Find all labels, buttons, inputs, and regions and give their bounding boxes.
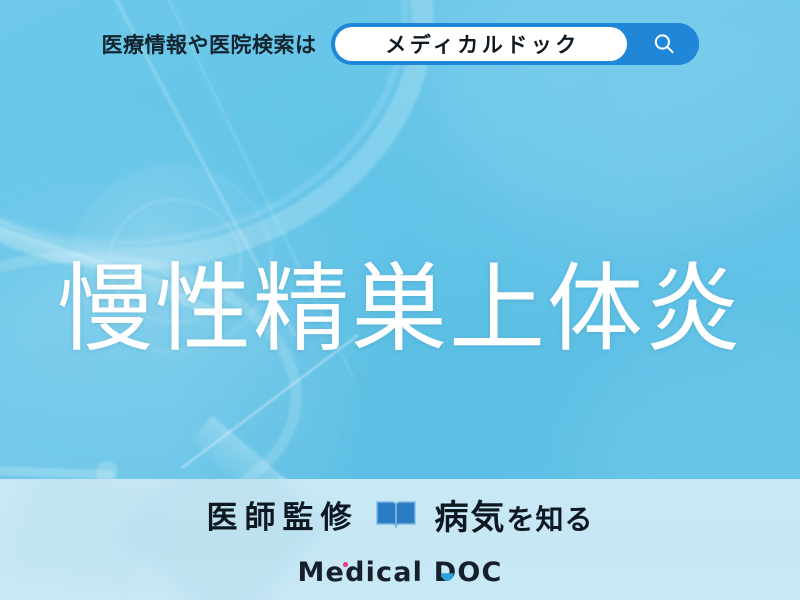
logo-wordmark: Medical DOC — [297, 556, 502, 590]
site-header: 医療情報や医院検索は メディカルドック — [0, 0, 800, 88]
doctor-supervised-label: 医師監修 — [206, 492, 358, 537]
page-title: 慢性精巣上体炎 — [57, 260, 743, 361]
page-root: 医療情報や医院検索は メディカルドック 慢性精巣上体炎 医師監修 — [0, 0, 800, 600]
header-tagline: 医療情報や医院検索は — [102, 29, 317, 59]
search-button[interactable] — [629, 23, 699, 65]
search-bar[interactable]: メディカルドック — [331, 23, 699, 65]
search-input-value: メディカルドック — [381, 29, 580, 59]
logo-text: Medical DOC — [297, 556, 502, 590]
hero-section: 慢性精巣上体炎 — [0, 196, 800, 425]
know-disease-secondary: を知る — [506, 498, 593, 538]
banner-content-row: 医師監修 病気 を知る — [0, 490, 800, 539]
know-disease-label: 病気 を知る — [434, 490, 593, 539]
search-input[interactable]: メディカルドック — [335, 27, 627, 61]
site-logo[interactable]: Medical DOC — [0, 556, 800, 590]
know-disease-primary: 病気 — [434, 490, 506, 539]
search-icon — [650, 30, 678, 58]
open-book-icon — [374, 497, 418, 533]
